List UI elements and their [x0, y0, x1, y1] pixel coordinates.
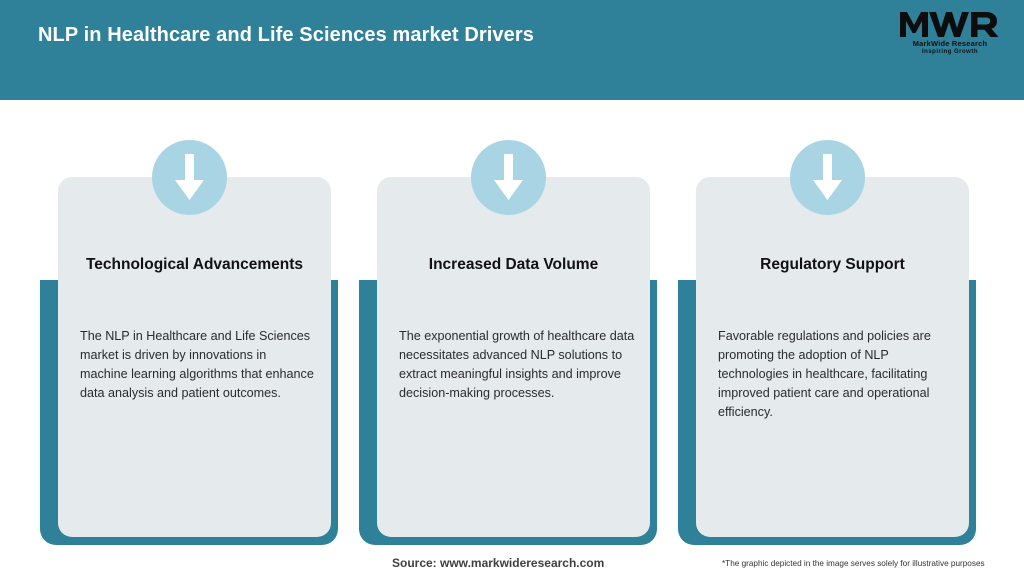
logo-tagline: Inspiring Growth [898, 49, 1002, 55]
card-panel: Technological Advancements The NLP in He… [58, 177, 331, 537]
down-arrow-icon [790, 140, 865, 215]
driver-card-1: Technological Advancements The NLP in He… [40, 100, 338, 540]
card-panel: Regulatory Support Favorable regulations… [696, 177, 969, 537]
disclaimer-note: *The graphic depicted in the image serve… [722, 559, 985, 568]
down-arrow-icon [471, 140, 546, 215]
card-title: Technological Advancements [80, 255, 309, 275]
logo-company-name: MarkWide Research [898, 39, 1002, 48]
card-body-text: The NLP in Healthcare and Life Sciences … [80, 327, 317, 403]
card-body-text: The exponential growth of healthcare dat… [399, 327, 636, 403]
brand-logo: MarkWide Research Inspiring Growth [898, 10, 1002, 62]
logo-mwr-mark [898, 10, 1002, 38]
header-banner: NLP in Healthcare and Life Sciences mark… [0, 0, 1024, 100]
card-title: Increased Data Volume [399, 255, 628, 275]
driver-card-2: Increased Data Volume The exponential gr… [359, 100, 657, 540]
source-attribution: Source: www.markwideresearch.com [392, 556, 604, 570]
card-body-text: Favorable regulations and policies are p… [718, 327, 955, 422]
driver-card-3: Regulatory Support Favorable regulations… [678, 100, 976, 540]
down-arrow-icon [152, 140, 227, 215]
card-title: Regulatory Support [718, 255, 947, 275]
page-title: NLP in Healthcare and Life Sciences mark… [38, 24, 534, 47]
drivers-card-group: Technological Advancements The NLP in He… [0, 100, 1024, 540]
card-panel: Increased Data Volume The exponential gr… [377, 177, 650, 537]
